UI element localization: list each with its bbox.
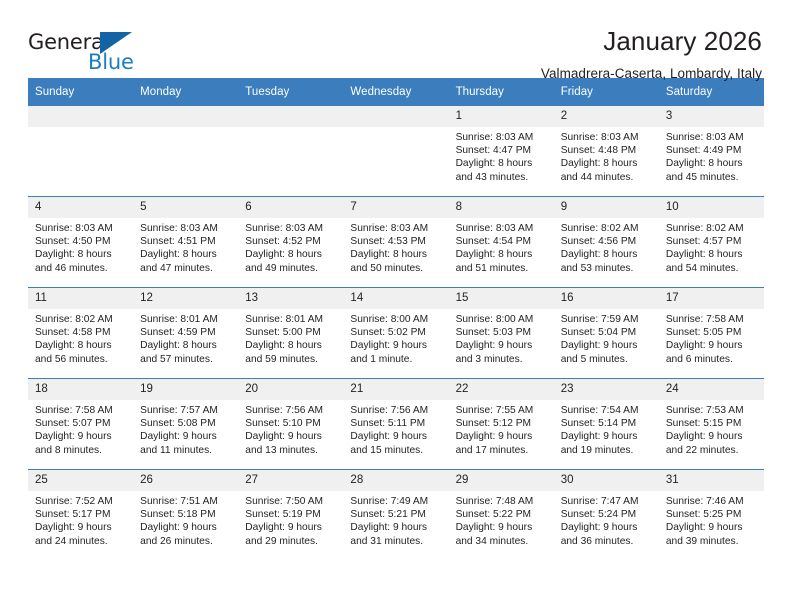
sunset-line: Sunset: 5:19 PM: [245, 508, 337, 521]
day-number: 25: [28, 470, 133, 491]
day-details: Sunrise: 8:03 AMSunset: 4:50 PMDaylight:…: [28, 218, 133, 275]
day-details: Sunrise: 7:49 AMSunset: 5:21 PMDaylight:…: [343, 491, 448, 548]
day-details: [28, 127, 133, 131]
day-number: 28: [343, 470, 448, 491]
daylight-line: Daylight: 9 hours: [561, 521, 653, 534]
sunrise-line: Sunrise: 8:01 AM: [140, 313, 232, 326]
day-details: Sunrise: 8:02 AMSunset: 4:56 PMDaylight:…: [554, 218, 659, 275]
calendar-day-cell[interactable]: 22Sunrise: 7:55 AMSunset: 5:12 PMDayligh…: [449, 379, 554, 470]
sunrise-line: Sunrise: 8:02 AM: [666, 222, 758, 235]
day-number: 5: [133, 197, 238, 218]
day-number: 9: [554, 197, 659, 218]
day-number: 20: [238, 379, 343, 400]
daylight-line: Daylight: 9 hours: [35, 521, 127, 534]
daylight-minutes-line: and 53 minutes.: [561, 262, 653, 275]
daylight-line: Daylight: 8 hours: [456, 248, 548, 261]
day-details: Sunrise: 8:03 AMSunset: 4:49 PMDaylight:…: [659, 127, 764, 184]
sunset-line: Sunset: 5:11 PM: [350, 417, 442, 430]
day-details: Sunrise: 8:01 AMSunset: 5:00 PMDaylight:…: [238, 309, 343, 366]
day-number: 12: [133, 288, 238, 309]
day-number: 22: [449, 379, 554, 400]
sunrise-line: Sunrise: 7:46 AM: [666, 495, 758, 508]
daylight-minutes-line: and 19 minutes.: [561, 444, 653, 457]
daylight-line: Daylight: 9 hours: [666, 339, 758, 352]
day-details: Sunrise: 8:03 AMSunset: 4:54 PMDaylight:…: [449, 218, 554, 275]
day-number: 7: [343, 197, 448, 218]
sunset-line: Sunset: 5:08 PM: [140, 417, 232, 430]
sunrise-line: Sunrise: 8:00 AM: [456, 313, 548, 326]
daylight-minutes-line: and 13 minutes.: [245, 444, 337, 457]
daylight-line: Daylight: 8 hours: [350, 248, 442, 261]
day-number: 24: [659, 379, 764, 400]
calendar-day-cell[interactable]: 12Sunrise: 8:01 AMSunset: 4:59 PMDayligh…: [133, 288, 238, 379]
day-details: [238, 127, 343, 131]
daylight-minutes-line: and 17 minutes.: [456, 444, 548, 457]
day-number: 18: [28, 379, 133, 400]
daylight-line: Daylight: 8 hours: [35, 339, 127, 352]
sunset-line: Sunset: 5:21 PM: [350, 508, 442, 521]
sunrise-line: Sunrise: 7:49 AM: [350, 495, 442, 508]
day-number: 14: [343, 288, 448, 309]
calendar-day-cell[interactable]: 13Sunrise: 8:01 AMSunset: 5:00 PMDayligh…: [238, 288, 343, 379]
day-number: 13: [238, 288, 343, 309]
calendar-day-cell[interactable]: 4Sunrise: 8:03 AMSunset: 4:50 PMDaylight…: [28, 197, 133, 288]
daylight-line: Daylight: 9 hours: [245, 430, 337, 443]
day-number: 15: [449, 288, 554, 309]
day-number: 16: [554, 288, 659, 309]
daylight-minutes-line: and 11 minutes.: [140, 444, 232, 457]
daylight-minutes-line: and 51 minutes.: [456, 262, 548, 275]
daylight-line: Daylight: 8 hours: [140, 248, 232, 261]
general-blue-logo[interactable]: General Blue: [28, 26, 160, 80]
calendar-day-cell[interactable]: 19Sunrise: 7:57 AMSunset: 5:08 PMDayligh…: [133, 379, 238, 470]
day-number: [238, 106, 343, 127]
sunrise-line: Sunrise: 7:51 AM: [140, 495, 232, 508]
day-details: Sunrise: 7:46 AMSunset: 5:25 PMDaylight:…: [659, 491, 764, 548]
daylight-line: Daylight: 9 hours: [140, 521, 232, 534]
daylight-line: Daylight: 9 hours: [456, 430, 548, 443]
daylight-minutes-line: and 8 minutes.: [35, 444, 127, 457]
page-title: January 2026: [541, 26, 762, 56]
day-details: Sunrise: 8:00 AMSunset: 5:02 PMDaylight:…: [343, 309, 448, 366]
daylight-minutes-line: and 46 minutes.: [35, 262, 127, 275]
sunset-line: Sunset: 5:17 PM: [35, 508, 127, 521]
daylight-minutes-line: and 34 minutes.: [456, 535, 548, 548]
sunset-line: Sunset: 5:05 PM: [666, 326, 758, 339]
day-number: [133, 106, 238, 127]
daylight-line: Daylight: 9 hours: [666, 521, 758, 534]
sunset-line: Sunset: 4:48 PM: [561, 144, 653, 157]
daylight-minutes-line: and 22 minutes.: [666, 444, 758, 457]
sunset-line: Sunset: 4:54 PM: [456, 235, 548, 248]
day-number: 27: [238, 470, 343, 491]
daylight-line: Daylight: 8 hours: [35, 248, 127, 261]
day-details: Sunrise: 7:56 AMSunset: 5:10 PMDaylight:…: [238, 400, 343, 457]
sunrise-line: Sunrise: 8:00 AM: [350, 313, 442, 326]
day-details: Sunrise: 7:50 AMSunset: 5:19 PMDaylight:…: [238, 491, 343, 548]
daylight-minutes-line: and 57 minutes.: [140, 353, 232, 366]
daylight-minutes-line: and 44 minutes.: [561, 171, 653, 184]
calendar-day-cell[interactable]: 30Sunrise: 7:47 AMSunset: 5:24 PMDayligh…: [554, 470, 659, 561]
day-number: 2: [554, 106, 659, 127]
calendar-body: 1Sunrise: 8:03 AMSunset: 4:47 PMDaylight…: [28, 106, 764, 560]
daylight-minutes-line: and 50 minutes.: [350, 262, 442, 275]
sunset-line: Sunset: 4:52 PM: [245, 235, 337, 248]
day-number: 29: [449, 470, 554, 491]
day-number: 17: [659, 288, 764, 309]
daylight-line: Daylight: 8 hours: [140, 339, 232, 352]
calendar-day-cell[interactable]: 23Sunrise: 7:54 AMSunset: 5:14 PMDayligh…: [554, 379, 659, 470]
weekday-header-monday: Monday: [133, 78, 238, 106]
sunset-line: Sunset: 4:58 PM: [35, 326, 127, 339]
calendar-day-cell[interactable]: 14Sunrise: 8:00 AMSunset: 5:02 PMDayligh…: [343, 288, 448, 379]
calendar-week-row: 18Sunrise: 7:58 AMSunset: 5:07 PMDayligh…: [28, 379, 764, 470]
day-details: Sunrise: 7:56 AMSunset: 5:11 PMDaylight:…: [343, 400, 448, 457]
day-details: Sunrise: 7:58 AMSunset: 5:07 PMDaylight:…: [28, 400, 133, 457]
sunset-line: Sunset: 5:22 PM: [456, 508, 548, 521]
daylight-line: Daylight: 8 hours: [245, 248, 337, 261]
daylight-line: Daylight: 9 hours: [350, 430, 442, 443]
sunset-line: Sunset: 4:57 PM: [666, 235, 758, 248]
daylight-line: Daylight: 8 hours: [666, 248, 758, 261]
day-number: 11: [28, 288, 133, 309]
sunset-line: Sunset: 5:18 PM: [140, 508, 232, 521]
day-details: Sunrise: 7:48 AMSunset: 5:22 PMDaylight:…: [449, 491, 554, 548]
sunset-line: Sunset: 4:59 PM: [140, 326, 232, 339]
calendar-day-cell[interactable]: 29Sunrise: 7:48 AMSunset: 5:22 PMDayligh…: [449, 470, 554, 561]
daylight-minutes-line: and 47 minutes.: [140, 262, 232, 275]
sunset-line: Sunset: 5:03 PM: [456, 326, 548, 339]
day-details: Sunrise: 7:55 AMSunset: 5:12 PMDaylight:…: [449, 400, 554, 457]
sunrise-line: Sunrise: 7:59 AM: [561, 313, 653, 326]
day-number: 21: [343, 379, 448, 400]
sunrise-line: Sunrise: 7:57 AM: [140, 404, 232, 417]
calendar-day-cell[interactable]: 5Sunrise: 8:03 AMSunset: 4:51 PMDaylight…: [133, 197, 238, 288]
calendar-week-row: 1Sunrise: 8:03 AMSunset: 4:47 PMDaylight…: [28, 106, 764, 197]
daylight-minutes-line: and 59 minutes.: [245, 353, 337, 366]
day-details: Sunrise: 7:58 AMSunset: 5:05 PMDaylight:…: [659, 309, 764, 366]
calendar-day-cell[interactable]: 15Sunrise: 8:00 AMSunset: 5:03 PMDayligh…: [449, 288, 554, 379]
day-details: Sunrise: 7:51 AMSunset: 5:18 PMDaylight:…: [133, 491, 238, 548]
sunset-line: Sunset: 5:00 PM: [245, 326, 337, 339]
day-details: Sunrise: 8:02 AMSunset: 4:57 PMDaylight:…: [659, 218, 764, 275]
weekday-header-wednesday: Wednesday: [343, 78, 448, 106]
day-details: [133, 127, 238, 131]
sunset-line: Sunset: 5:02 PM: [350, 326, 442, 339]
daylight-line: Daylight: 9 hours: [35, 430, 127, 443]
day-number: 30: [554, 470, 659, 491]
daylight-minutes-line: and 3 minutes.: [456, 353, 548, 366]
sunrise-line: Sunrise: 7:56 AM: [245, 404, 337, 417]
weekday-header-tuesday: Tuesday: [238, 78, 343, 106]
daylight-line: Daylight: 9 hours: [456, 339, 548, 352]
day-number: [28, 106, 133, 127]
daylight-minutes-line: and 29 minutes.: [245, 535, 337, 548]
day-number: 31: [659, 470, 764, 491]
day-details: Sunrise: 7:47 AMSunset: 5:24 PMDaylight:…: [554, 491, 659, 548]
daylight-line: Daylight: 9 hours: [561, 339, 653, 352]
sunrise-line: Sunrise: 8:03 AM: [35, 222, 127, 235]
daylight-line: Daylight: 9 hours: [350, 339, 442, 352]
sunset-line: Sunset: 4:49 PM: [666, 144, 758, 157]
calendar-day-cell[interactable]: 26Sunrise: 7:51 AMSunset: 5:18 PMDayligh…: [133, 470, 238, 561]
calendar-week-row: 25Sunrise: 7:52 AMSunset: 5:17 PMDayligh…: [28, 470, 764, 561]
daylight-minutes-line: and 1 minute.: [350, 353, 442, 366]
daylight-line: Daylight: 8 hours: [561, 248, 653, 261]
calendar-day-cell[interactable]: 9Sunrise: 8:02 AMSunset: 4:56 PMDaylight…: [554, 197, 659, 288]
sunrise-line: Sunrise: 7:52 AM: [35, 495, 127, 508]
sunrise-line: Sunrise: 8:03 AM: [350, 222, 442, 235]
daylight-minutes-line: and 26 minutes.: [140, 535, 232, 548]
sunrise-line: Sunrise: 8:03 AM: [456, 131, 548, 144]
calendar-day-cell[interactable]: 21Sunrise: 7:56 AMSunset: 5:11 PMDayligh…: [343, 379, 448, 470]
day-details: Sunrise: 7:59 AMSunset: 5:04 PMDaylight:…: [554, 309, 659, 366]
day-details: Sunrise: 8:03 AMSunset: 4:51 PMDaylight:…: [133, 218, 238, 275]
calendar-cell-empty: [133, 106, 238, 197]
sunrise-line: Sunrise: 7:54 AM: [561, 404, 653, 417]
calendar-page: General Blue January 2026 Valmadrera-Cas…: [0, 0, 792, 612]
page-header: General Blue January 2026 Valmadrera-Cas…: [28, 0, 764, 72]
sunset-line: Sunset: 5:07 PM: [35, 417, 127, 430]
sunrise-line: Sunrise: 7:55 AM: [456, 404, 548, 417]
calendar-day-cell[interactable]: 1Sunrise: 8:03 AMSunset: 4:47 PMDaylight…: [449, 106, 554, 197]
sunrise-line: Sunrise: 7:47 AM: [561, 495, 653, 508]
sunrise-line: Sunrise: 8:03 AM: [666, 131, 758, 144]
calendar-day-cell[interactable]: 18Sunrise: 7:58 AMSunset: 5:07 PMDayligh…: [28, 379, 133, 470]
daylight-minutes-line: and 15 minutes.: [350, 444, 442, 457]
day-details: Sunrise: 8:00 AMSunset: 5:03 PMDaylight:…: [449, 309, 554, 366]
day-details: Sunrise: 8:03 AMSunset: 4:48 PMDaylight:…: [554, 127, 659, 184]
sunrise-line: Sunrise: 7:56 AM: [350, 404, 442, 417]
sunset-line: Sunset: 5:04 PM: [561, 326, 653, 339]
weekday-header-sunday: Sunday: [28, 78, 133, 106]
sunrise-line: Sunrise: 8:03 AM: [245, 222, 337, 235]
calendar-day-cell[interactable]: 2Sunrise: 8:03 AMSunset: 4:48 PMDaylight…: [554, 106, 659, 197]
sunrise-line: Sunrise: 8:03 AM: [561, 131, 653, 144]
sunrise-line: Sunrise: 8:01 AM: [245, 313, 337, 326]
calendar-day-cell[interactable]: 10Sunrise: 8:02 AMSunset: 4:57 PMDayligh…: [659, 197, 764, 288]
calendar-day-cell[interactable]: 20Sunrise: 7:56 AMSunset: 5:10 PMDayligh…: [238, 379, 343, 470]
day-details: Sunrise: 7:57 AMSunset: 5:08 PMDaylight:…: [133, 400, 238, 457]
sunrise-line: Sunrise: 8:02 AM: [35, 313, 127, 326]
sunset-line: Sunset: 4:50 PM: [35, 235, 127, 248]
day-number: 1: [449, 106, 554, 127]
day-details: Sunrise: 8:03 AMSunset: 4:47 PMDaylight:…: [449, 127, 554, 184]
calendar-day-cell[interactable]: 31Sunrise: 7:46 AMSunset: 5:25 PMDayligh…: [659, 470, 764, 561]
sunrise-line: Sunrise: 7:58 AM: [666, 313, 758, 326]
calendar-day-cell[interactable]: 8Sunrise: 8:03 AMSunset: 4:54 PMDaylight…: [449, 197, 554, 288]
calendar-day-cell[interactable]: 17Sunrise: 7:58 AMSunset: 5:05 PMDayligh…: [659, 288, 764, 379]
sunset-line: Sunset: 4:53 PM: [350, 235, 442, 248]
calendar-day-cell[interactable]: 7Sunrise: 8:03 AMSunset: 4:53 PMDaylight…: [343, 197, 448, 288]
day-number: 23: [554, 379, 659, 400]
sunrise-line: Sunrise: 7:53 AM: [666, 404, 758, 417]
daylight-line: Daylight: 8 hours: [561, 157, 653, 170]
sunrise-line: Sunrise: 8:03 AM: [140, 222, 232, 235]
page-subtitle: Valmadrera-Caserta, Lombardy, Italy: [541, 65, 762, 83]
sunrise-line: Sunrise: 7:58 AM: [35, 404, 127, 417]
sunset-line: Sunset: 5:15 PM: [666, 417, 758, 430]
day-details: Sunrise: 7:52 AMSunset: 5:17 PMDaylight:…: [28, 491, 133, 548]
calendar-day-cell[interactable]: 11Sunrise: 8:02 AMSunset: 4:58 PMDayligh…: [28, 288, 133, 379]
sunrise-line: Sunrise: 8:02 AM: [561, 222, 653, 235]
daylight-minutes-line: and 43 minutes.: [456, 171, 548, 184]
day-number: 3: [659, 106, 764, 127]
calendar-day-cell[interactable]: 3Sunrise: 8:03 AMSunset: 4:49 PMDaylight…: [659, 106, 764, 197]
sunset-line: Sunset: 4:56 PM: [561, 235, 653, 248]
day-details: Sunrise: 8:03 AMSunset: 4:53 PMDaylight:…: [343, 218, 448, 275]
sunset-line: Sunset: 5:25 PM: [666, 508, 758, 521]
daylight-line: Daylight: 9 hours: [561, 430, 653, 443]
calendar-day-cell[interactable]: 24Sunrise: 7:53 AMSunset: 5:15 PMDayligh…: [659, 379, 764, 470]
day-number: 8: [449, 197, 554, 218]
daylight-line: Daylight: 9 hours: [245, 521, 337, 534]
sunrise-line: Sunrise: 7:50 AM: [245, 495, 337, 508]
weekday-header-thursday: Thursday: [449, 78, 554, 106]
day-number: 19: [133, 379, 238, 400]
sunset-line: Sunset: 5:14 PM: [561, 417, 653, 430]
daylight-minutes-line: and 31 minutes.: [350, 535, 442, 548]
day-number: [343, 106, 448, 127]
daylight-line: Daylight: 8 hours: [456, 157, 548, 170]
calendar-day-cell[interactable]: 27Sunrise: 7:50 AMSunset: 5:19 PMDayligh…: [238, 470, 343, 561]
sunset-line: Sunset: 4:47 PM: [456, 144, 548, 157]
sunset-line: Sunset: 5:24 PM: [561, 508, 653, 521]
daylight-minutes-line: and 45 minutes.: [666, 171, 758, 184]
daylight-line: Daylight: 9 hours: [350, 521, 442, 534]
calendar-day-cell[interactable]: 28Sunrise: 7:49 AMSunset: 5:21 PMDayligh…: [343, 470, 448, 561]
day-details: [343, 127, 448, 131]
sunset-line: Sunset: 5:10 PM: [245, 417, 337, 430]
calendar-cell-empty: [238, 106, 343, 197]
day-details: Sunrise: 8:03 AMSunset: 4:52 PMDaylight:…: [238, 218, 343, 275]
daylight-minutes-line: and 24 minutes.: [35, 535, 127, 548]
daylight-minutes-line: and 56 minutes.: [35, 353, 127, 366]
daylight-minutes-line: and 49 minutes.: [245, 262, 337, 275]
day-number: 10: [659, 197, 764, 218]
daylight-minutes-line: and 39 minutes.: [666, 535, 758, 548]
sunrise-line: Sunrise: 7:48 AM: [456, 495, 548, 508]
daylight-minutes-line: and 6 minutes.: [666, 353, 758, 366]
calendar-day-cell[interactable]: 16Sunrise: 7:59 AMSunset: 5:04 PMDayligh…: [554, 288, 659, 379]
calendar-cell-empty: [28, 106, 133, 197]
daylight-minutes-line: and 5 minutes.: [561, 353, 653, 366]
sunset-line: Sunset: 4:51 PM: [140, 235, 232, 248]
title-block: January 2026 Valmadrera-Caserta, Lombard…: [541, 26, 764, 83]
calendar-week-row: 4Sunrise: 8:03 AMSunset: 4:50 PMDaylight…: [28, 197, 764, 288]
daylight-line: Daylight: 9 hours: [456, 521, 548, 534]
daylight-line: Daylight: 8 hours: [666, 157, 758, 170]
day-number: 6: [238, 197, 343, 218]
day-details: Sunrise: 8:01 AMSunset: 4:59 PMDaylight:…: [133, 309, 238, 366]
day-details: Sunrise: 8:02 AMSunset: 4:58 PMDaylight:…: [28, 309, 133, 366]
calendar-day-cell[interactable]: 6Sunrise: 8:03 AMSunset: 4:52 PMDaylight…: [238, 197, 343, 288]
sunrise-line: Sunrise: 8:03 AM: [456, 222, 548, 235]
daylight-minutes-line: and 54 minutes.: [666, 262, 758, 275]
day-number: 4: [28, 197, 133, 218]
calendar-week-row: 11Sunrise: 8:02 AMSunset: 4:58 PMDayligh…: [28, 288, 764, 379]
day-details: Sunrise: 7:53 AMSunset: 5:15 PMDaylight:…: [659, 400, 764, 457]
calendar-cell-empty: [343, 106, 448, 197]
calendar-table: SundayMondayTuesdayWednesdayThursdayFrid…: [28, 78, 764, 560]
day-details: Sunrise: 7:54 AMSunset: 5:14 PMDaylight:…: [554, 400, 659, 457]
daylight-line: Daylight: 8 hours: [245, 339, 337, 352]
sunset-line: Sunset: 5:12 PM: [456, 417, 548, 430]
calendar-day-cell[interactable]: 25Sunrise: 7:52 AMSunset: 5:17 PMDayligh…: [28, 470, 133, 561]
daylight-line: Daylight: 9 hours: [140, 430, 232, 443]
logo-text-blue: Blue: [88, 50, 134, 74]
daylight-minutes-line: and 36 minutes.: [561, 535, 653, 548]
daylight-line: Daylight: 9 hours: [666, 430, 758, 443]
day-number: 26: [133, 470, 238, 491]
